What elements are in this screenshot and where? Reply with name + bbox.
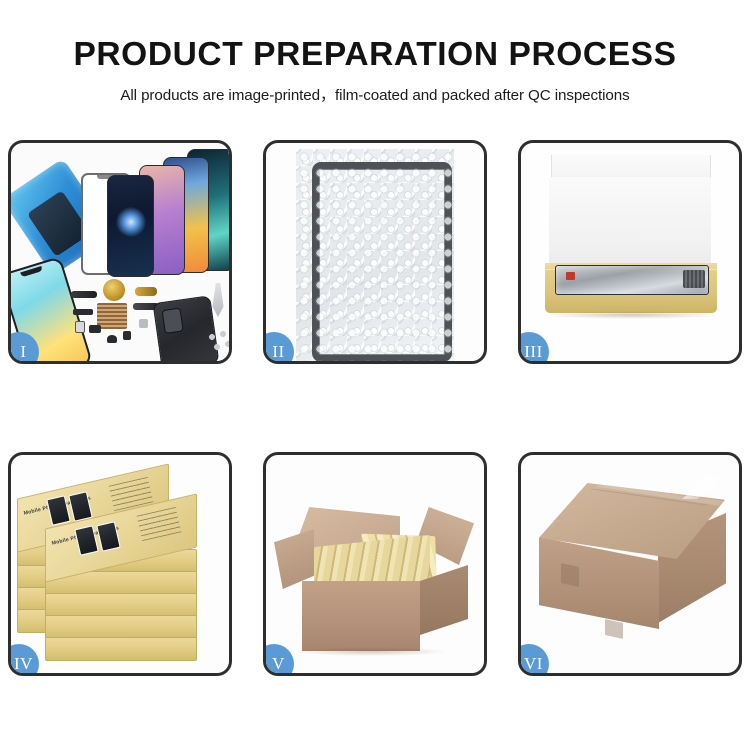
gold-connector-part bbox=[135, 287, 157, 296]
step-badge-label: II bbox=[263, 332, 294, 364]
step-badge-1: I bbox=[8, 332, 39, 364]
drop-shadow bbox=[543, 311, 719, 319]
page-subtitle: All products are image-printed，film-coat… bbox=[0, 72, 750, 103]
process-step-panel-1: I bbox=[8, 140, 232, 364]
process-step-panel-3: III bbox=[518, 140, 742, 364]
step-badge-label: III bbox=[518, 332, 549, 364]
parts-overview-photo bbox=[11, 143, 229, 361]
process-step-panel-2: II bbox=[263, 140, 487, 364]
step-badge-label: IV bbox=[8, 644, 39, 676]
step-badge-label: V bbox=[263, 644, 294, 676]
page-header: PRODUCT PREPARATION PROCESS All products… bbox=[0, 0, 750, 103]
sealed-carton-photo bbox=[521, 455, 739, 673]
bubble-wrapped-screen-photo bbox=[266, 143, 484, 361]
bubble-wrap-sheet bbox=[296, 149, 454, 361]
screen-assembly bbox=[312, 162, 452, 361]
step-badge-label: I bbox=[8, 332, 39, 364]
stacked-box bbox=[45, 637, 197, 661]
red-label-mark bbox=[566, 272, 575, 280]
boxed-screen-photo bbox=[521, 143, 739, 361]
drop-shadow bbox=[296, 647, 446, 656]
step-badge-2: II bbox=[263, 332, 294, 364]
screws-group bbox=[207, 331, 229, 355]
flex-cable-part bbox=[71, 291, 97, 298]
page-title: PRODUCT PREPARATION PROCESS bbox=[0, 0, 750, 72]
small-part-5 bbox=[123, 331, 131, 340]
small-part-4 bbox=[107, 335, 117, 343]
small-part-7 bbox=[139, 319, 148, 328]
stacked-box bbox=[45, 593, 197, 617]
foam-insert bbox=[549, 177, 711, 275]
process-step-grid: I II bbox=[8, 140, 742, 676]
step-badge-4: IV bbox=[8, 644, 39, 676]
small-part-1 bbox=[73, 309, 93, 315]
stacked-retail-boxes-photo: Mobile Phone Spare Parts Mobile Phone Sp… bbox=[11, 455, 229, 673]
carton-tab-upper bbox=[561, 563, 579, 587]
wrapped-screen-in-box bbox=[555, 265, 709, 295]
phone-screen-dark bbox=[107, 175, 154, 277]
small-part-3 bbox=[89, 325, 101, 333]
stacked-box bbox=[45, 615, 197, 639]
step-badge-5: V bbox=[263, 644, 294, 676]
process-step-panel-6: VI bbox=[518, 452, 742, 676]
carton-side-front bbox=[302, 581, 420, 651]
process-step-panel-5: V bbox=[263, 452, 487, 676]
open-carton-photo bbox=[266, 455, 484, 673]
chip-array-part bbox=[97, 303, 127, 329]
step-badge-3: III bbox=[518, 332, 549, 364]
small-part-2 bbox=[75, 321, 85, 333]
copper-coil-part bbox=[103, 279, 125, 301]
process-step-panel-4: Mobile Phone Spare Parts Mobile Phone Sp… bbox=[8, 452, 232, 676]
step-badge-label: VI bbox=[518, 644, 549, 676]
step-badge-6: VI bbox=[518, 644, 549, 676]
